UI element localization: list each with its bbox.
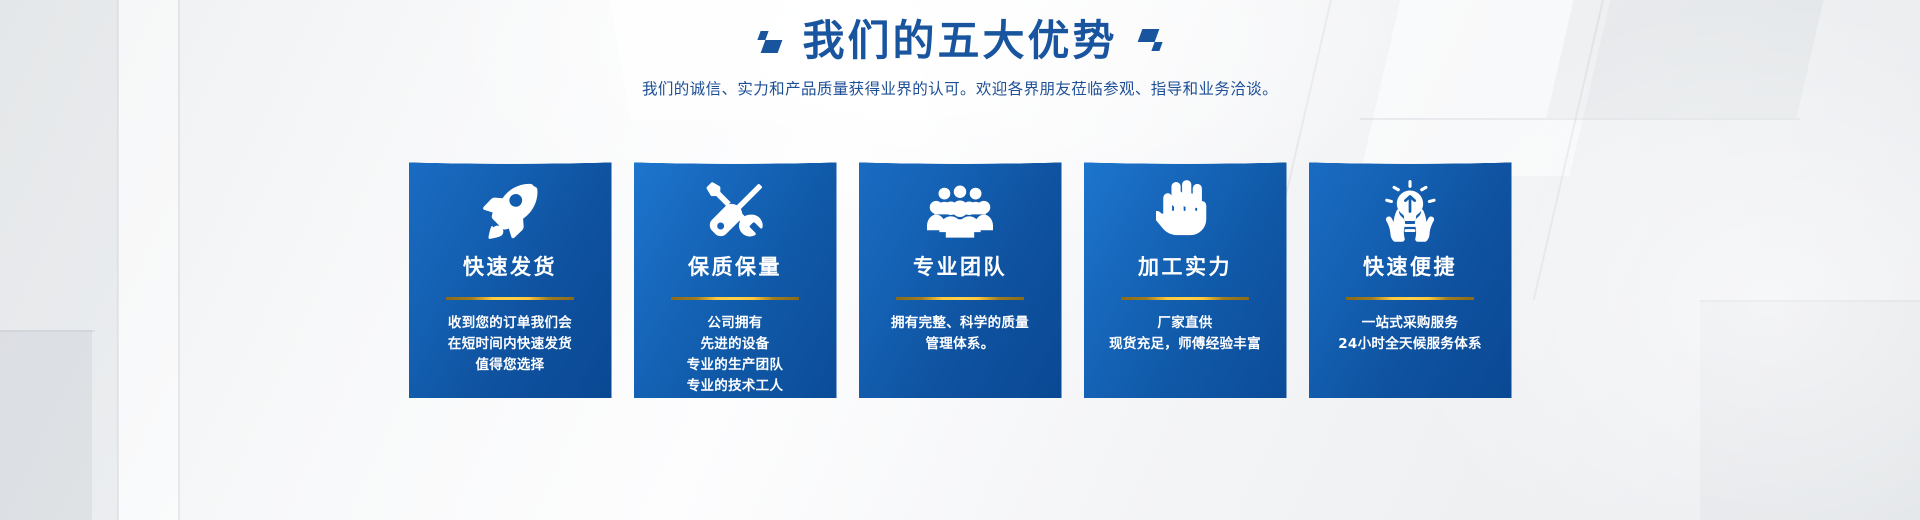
advantage-card-fast-convenient[interactable]: 快速便捷 一站式采购服务 24小时全天候服务体系 (1309, 141, 1512, 398)
card-body-line: 厂家直供 (1109, 313, 1261, 334)
advantage-card-fast-shipping[interactable]: 快速发货 收到您的订单我们会 在短时间内快速发货 值得您选择 (409, 141, 612, 398)
card-body-line: 管理体系。 (891, 334, 1029, 355)
card-title: 加工实力 (1138, 251, 1232, 281)
advantage-card-quality-assurance[interactable]: 保质保量 公司拥有 先进的设备 专业的生产团队 专业的技术工人 (634, 141, 837, 398)
card-title: 快速便捷 (1363, 251, 1457, 281)
card-title: 快速发货 (463, 251, 557, 281)
card-divider (671, 297, 799, 300)
card-body: 厂家直供 现货充足，师傅经验丰富 (1109, 313, 1261, 355)
wrench-screwdriver-icon (704, 173, 766, 249)
card-body-line: 专业的技术工人 (687, 376, 784, 397)
card-body: 收到您的订单我们会 在短时间内快速发货 值得您选择 (448, 313, 572, 376)
card-body-line: 公司拥有 (687, 313, 784, 334)
card-body: 一站式采购服务 24小时全天候服务体系 (1338, 313, 1482, 355)
card-divider (1121, 297, 1249, 300)
card-divider (896, 297, 1024, 300)
page-title: 我们的五大优势 (802, 17, 1117, 64)
card-body: 公司拥有 先进的设备 专业的生产团队 专业的技术工人 (687, 313, 784, 397)
advantage-card-list: 快速发货 收到您的订单我们会 在短时间内快速发货 值得您选择 保质保量 公 (0, 141, 1920, 398)
section-header: 我们的五大优势 我们的诚信、实力和产品质量获得业界的认可。欢迎各界朋友莅临参观、… (0, 0, 1920, 99)
card-body-line: 拥有完整、科学的质量 (891, 313, 1029, 334)
title-row: 我们的五大优势 (0, 0, 1920, 64)
card-body-line: 先进的设备 (687, 334, 784, 355)
fist-icon (1156, 173, 1214, 249)
card-body-line: 专业的生产团队 (687, 355, 784, 376)
card-body-line: 现货充足，师傅经验丰富 (1109, 334, 1261, 355)
card-divider (1346, 297, 1474, 300)
advantage-card-professional-team[interactable]: 专业团队 拥有完整、科学的质量 管理体系。 (859, 141, 1062, 398)
card-body-line: 值得您选择 (448, 355, 572, 376)
page-subtitle: 我们的诚信、实力和产品质量获得业界的认可。欢迎各界朋友莅临参观、指导和业务洽谈。 (0, 77, 1920, 99)
card-body: 拥有完整、科学的质量 管理体系。 (891, 313, 1029, 355)
advantage-card-processing-strength[interactable]: 加工实力 厂家直供 现货充足，师傅经验丰富 (1084, 141, 1287, 398)
hands-lightbulb-icon (1375, 173, 1445, 249)
card-body-line: 在短时间内快速发货 (448, 334, 572, 355)
card-title: 保质保量 (688, 251, 782, 281)
ornament-left-icon (759, 28, 780, 53)
card-body-line: 24小时全天候服务体系 (1338, 334, 1482, 355)
card-body-line: 收到您的订单我们会 (448, 313, 572, 334)
ornament-right-icon (1140, 30, 1161, 51)
people-group-icon (927, 173, 993, 249)
card-body-line: 一站式采购服务 (1338, 313, 1482, 334)
rocket-icon (479, 173, 541, 249)
card-title: 专业团队 (913, 251, 1007, 281)
card-divider (446, 297, 574, 300)
